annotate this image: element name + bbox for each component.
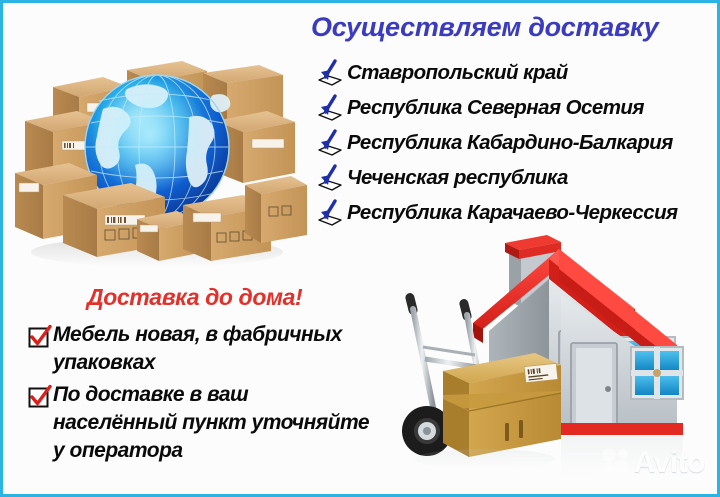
region-label: Республика Кабардино-Балкария (347, 131, 673, 155)
window-icon-final (631, 347, 683, 399)
region-label: Республика Карачаево-Черкессия (347, 201, 678, 225)
globe-boxes-svg (7, 25, 307, 275)
red-checkmark-checkbox-icon (27, 324, 53, 350)
blue-arrow-into-box-icon (315, 198, 345, 228)
blue-arrow-into-box-icon (315, 163, 345, 193)
list-item: Ставропольский край (315, 55, 719, 90)
region-label: Республика Северная Осетия (347, 96, 644, 120)
list-item: Республика Кабардино-Балкария (315, 125, 719, 160)
list-item: Республика Карачаево-Черкессия (315, 195, 719, 230)
list-item: Чеченская республика (315, 160, 719, 195)
avito-watermark: Avito (601, 446, 705, 480)
delivery-regions-list: Ставропольский край Республика Северная … (315, 55, 719, 230)
promise-label: По доставке в ваш населённый пункт уточн… (53, 381, 371, 465)
list-item: По доставке в ваш населённый пункт уточн… (27, 381, 377, 465)
blue-arrow-into-box-icon (315, 128, 345, 158)
page-title: Осуществляем доставку (311, 11, 715, 43)
avito-text: Avito (634, 446, 705, 480)
red-checkmark-checkbox-icon (27, 384, 53, 410)
list-item: Мебель новая, в фабричных упаковках (27, 321, 377, 377)
handtruck-boxes (443, 353, 561, 457)
region-label: Чеченская республика (347, 166, 568, 190)
section-subtitle: Доставка до дома! (87, 284, 302, 311)
avito-dots-logo (601, 447, 631, 480)
list-item: Республика Северная Осетия (315, 90, 719, 125)
promise-label: Мебель новая, в фабричных упаковках (53, 321, 371, 377)
blue-arrow-into-box-icon (315, 58, 345, 88)
globe-and-boxes-illustration (7, 25, 307, 275)
region-label: Ставропольский край (347, 61, 568, 85)
blue-arrow-into-box-icon (315, 93, 345, 123)
delivery-promises-list: Мебель новая, в фабричных упаковках По д… (27, 321, 377, 469)
advertisement-banner: Осуществляем доставку Ставропольский кра… (0, 0, 720, 497)
